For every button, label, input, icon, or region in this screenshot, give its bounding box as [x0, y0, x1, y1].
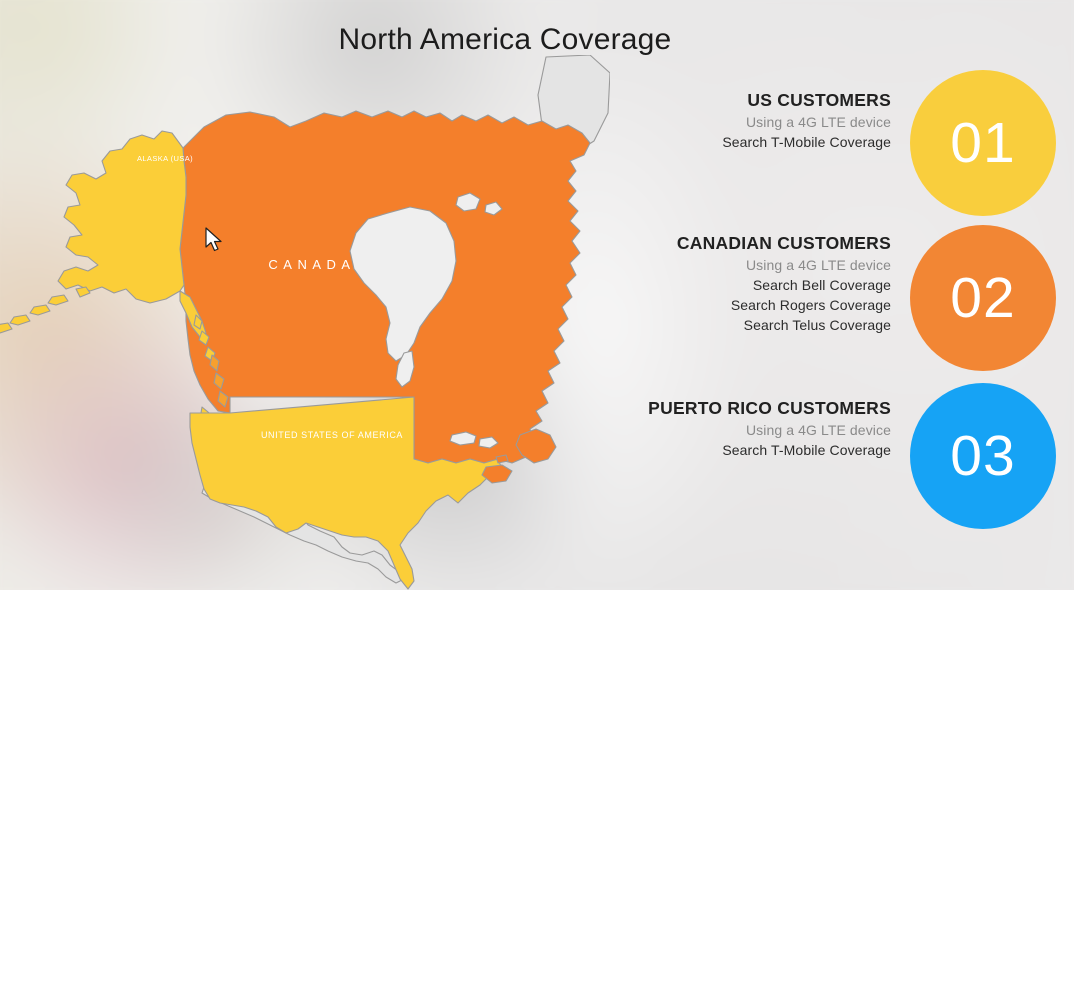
coverage-item-canada-title: CANADIAN CUSTOMERS [601, 231, 891, 255]
badge-03: 03 [910, 383, 1056, 529]
coverage-item-us-text: US CUSTOMERS Using a 4G LTE device Searc… [601, 88, 891, 152]
coverage-item-canada-text: CANADIAN CUSTOMERS Using a 4G LTE device… [601, 231, 891, 335]
coverage-item-us-title: US CUSTOMERS [601, 88, 891, 112]
north-america-map-svg: ALASKA (USA) CANADA UNITED STATES OF AME… [0, 55, 610, 590]
map-label-alaska: ALASKA (USA) [137, 154, 193, 163]
map-label-usa: UNITED STATES OF AMERICA [261, 430, 403, 440]
coverage-item-puerto-rico-subtitle: Using a 4G LTE device [601, 420, 891, 440]
coverage-items-list: US CUSTOMERS Using a 4G LTE device Searc… [600, 70, 1070, 570]
coverage-item-puerto-rico-title: PUERTO RICO CUSTOMERS [601, 396, 891, 420]
coverage-item-canada-line-2[interactable]: Search Rogers Coverage [601, 295, 891, 315]
map-container[interactable]: ALASKA (USA) CANADA UNITED STATES OF AME… [0, 55, 610, 590]
coverage-item-us-subtitle: Using a 4G LTE device [601, 112, 891, 132]
badge-02: 02 [910, 225, 1056, 371]
page-title: North America Coverage [0, 20, 1010, 60]
coverage-item-canada-line-3[interactable]: Search Telus Coverage [601, 315, 891, 335]
coverage-item-us-line-1[interactable]: Search T-Mobile Coverage [601, 132, 891, 152]
aleutian-islands [0, 287, 90, 333]
badge-01: 01 [910, 70, 1056, 216]
coverage-item-puerto-rico-text: PUERTO RICO CUSTOMERS Using a 4G LTE dev… [601, 396, 891, 460]
coverage-item-puerto-rico-line-1[interactable]: Search T-Mobile Coverage [601, 440, 891, 460]
hero-banner: North America Coverage [0, 0, 1074, 590]
coverage-infographic-page: North America Coverage [0, 0, 1074, 1000]
nova-scotia [482, 465, 512, 483]
map-label-canada: CANADA [268, 257, 355, 272]
coverage-item-canada-line-1[interactable]: Search Bell Coverage [601, 275, 891, 295]
coverage-item-canada-subtitle: Using a 4G LTE device [601, 255, 891, 275]
page-white-space [0, 590, 1074, 1000]
